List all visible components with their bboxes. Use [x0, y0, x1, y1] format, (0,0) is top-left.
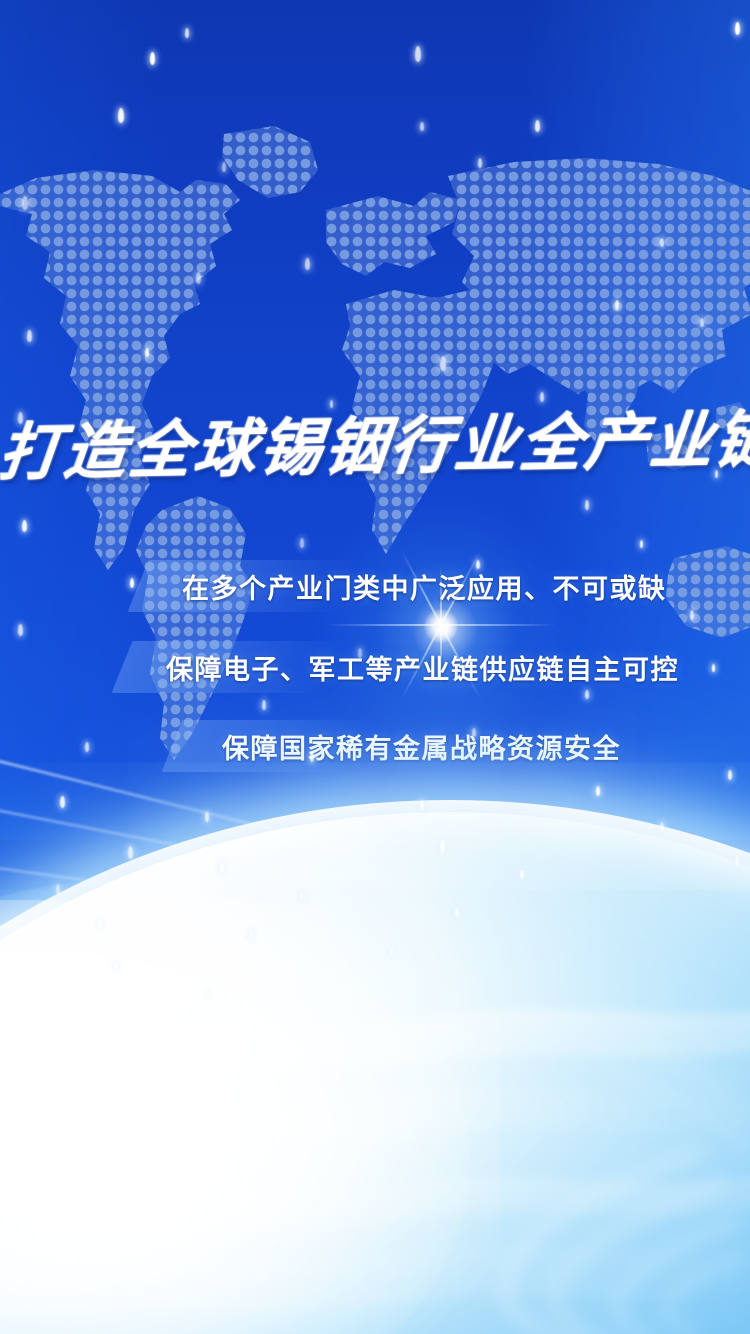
- subtitle-row-3: 保障国家稀有金属战略资源安全: [222, 720, 621, 772]
- subtitle-row-2: 保障电子、军工等产业链供应链自主可控: [166, 641, 679, 693]
- poster-canvas: 打造全球锡铟行业全产业链链主 在多个产业门类中广泛应用、不可或缺 保障电子、军工…: [0, 0, 750, 1334]
- subtitle-text-2: 保障电子、军工等产业链供应链自主可控: [166, 648, 679, 687]
- earth-horizon: [0, 812, 750, 1334]
- page-title: 打造全球锡铟行业全产业链链主: [0, 409, 750, 484]
- subtitle-row-1: 在多个产业门类中广泛应用、不可或缺: [182, 560, 667, 612]
- subtitle-text-3: 保障国家稀有金属战略资源安全: [222, 727, 621, 766]
- subtitle-text-1: 在多个产业门类中广泛应用、不可或缺: [182, 567, 667, 606]
